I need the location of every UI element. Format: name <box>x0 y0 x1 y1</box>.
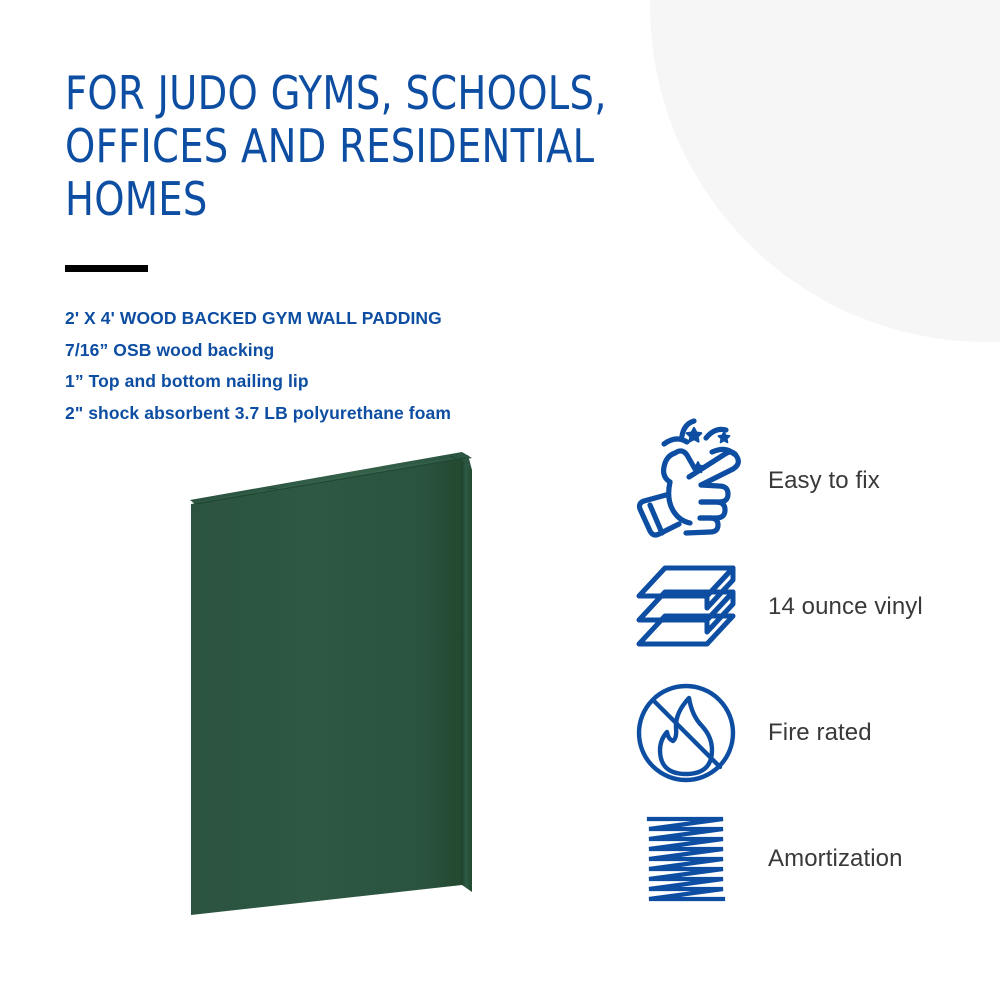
feature-label-fire-rated: Fire rated <box>768 719 872 747</box>
spec-line-1: 2' X 4' WOOD BACKED GYM WALL PADDING <box>65 303 451 335</box>
feature-item-easy-to-fix: Easy to fix <box>628 418 988 544</box>
spec-line-3: 1” Top and bottom nailing lip <box>65 366 451 398</box>
product-spec-list: 2' X 4' WOOD BACKED GYM WALL PADDING 7/1… <box>65 303 451 429</box>
stacked-layers-icon <box>628 562 743 652</box>
feature-item-amortization: Amortization <box>628 796 988 922</box>
page-title: FOR JUDO GYMS, SCHOOLS, OFFICES AND RESI… <box>65 67 660 226</box>
infographic-page: FOR JUDO GYMS, SCHOOLS, OFFICES AND RESI… <box>0 0 1000 1000</box>
background-circle-decoration <box>650 0 1000 342</box>
feature-label-vinyl: 14 ounce vinyl <box>768 593 923 621</box>
spec-line-2: 7/16” OSB wood backing <box>65 335 451 367</box>
feature-list: Easy to fix 14 ounce vinyl <box>628 418 988 922</box>
spec-line-4: 2" shock absorbent 3.7 LB polyurethane f… <box>65 398 451 430</box>
feature-item-vinyl: 14 ounce vinyl <box>628 544 988 670</box>
feature-item-fire-rated: Fire rated <box>628 670 988 796</box>
snapping-fingers-icon <box>628 422 743 540</box>
feature-label-amortization: Amortization <box>768 845 903 873</box>
product-image-gym-wall-pad <box>150 430 530 940</box>
spring-coil-icon <box>628 815 743 903</box>
divider-rule <box>65 265 148 272</box>
product-front-face <box>191 459 462 915</box>
product-side-edge <box>462 459 472 892</box>
no-fire-icon <box>628 681 743 785</box>
feature-label-easy-to-fix: Easy to fix <box>768 467 880 495</box>
